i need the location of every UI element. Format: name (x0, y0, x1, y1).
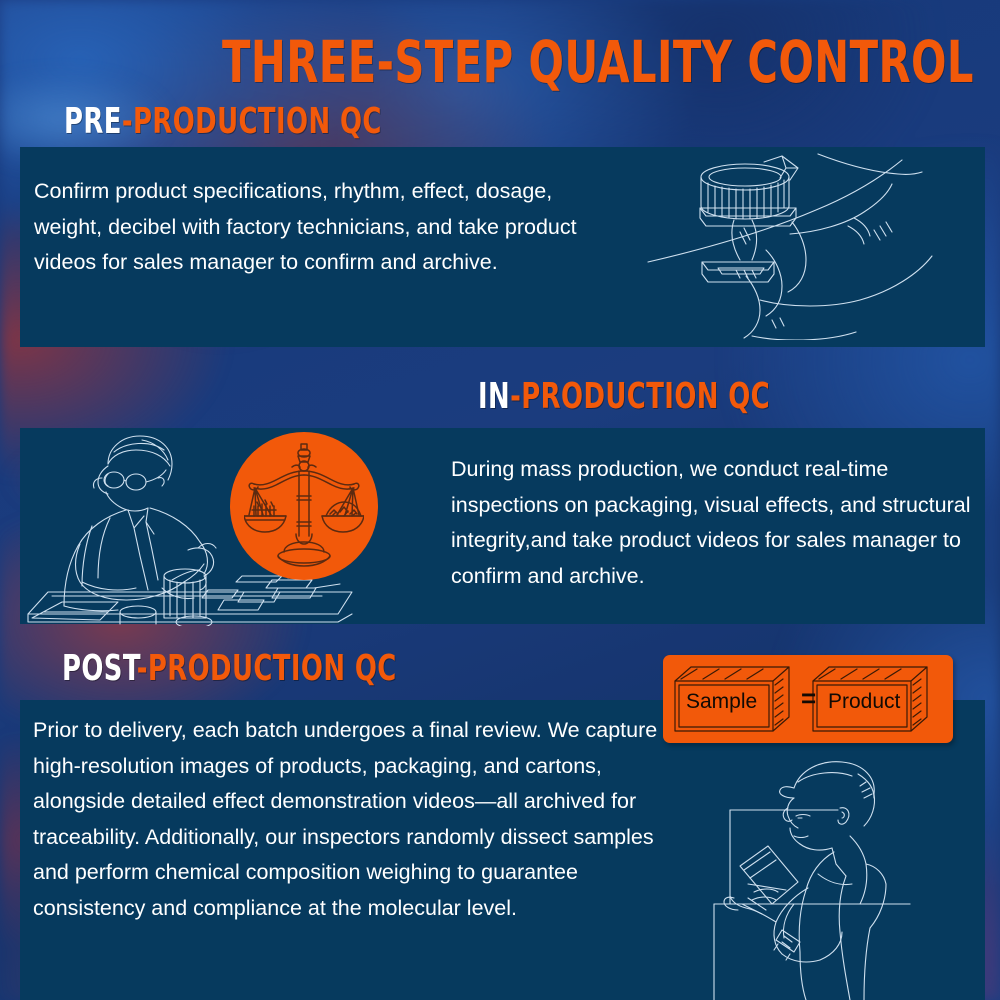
step-heading-in-production-suffix: -PRODUCTION QC (510, 376, 770, 417)
step-heading-post-production: POST-PRODUCTION QC (62, 651, 397, 687)
step-body-in-production: During mass production, we conduct real-… (451, 452, 986, 594)
step-heading-pre-production-suffix: -PRODUCTION QC (122, 101, 382, 142)
page-title: THREE-STEP QUALITY CONTROL (222, 33, 974, 91)
inspector-with-clipboard-icon (690, 752, 980, 1000)
balance-scales-badge (230, 432, 378, 580)
step-heading-post-production-suffix: -PRODUCTION QC (137, 648, 397, 689)
step-heading-in-production-prefix: IN (478, 376, 510, 417)
step-heading-pre-production: PRE-PRODUCTION QC (64, 104, 382, 140)
sample-box-label: Sample (686, 691, 757, 712)
step-heading-post-production-prefix: POST (62, 648, 137, 689)
product-box-label: Product (828, 691, 900, 712)
balance-scales-icon (244, 440, 364, 572)
step-body-pre-production: Confirm product specifications, rhythm, … (34, 174, 594, 281)
step-heading-in-production: IN-PRODUCTION QC (478, 379, 770, 415)
equals-sign-label: = (801, 688, 816, 709)
step-body-post-production: Prior to delivery, each batch undergoes … (33, 713, 658, 926)
hand-holding-product-icon (640, 150, 970, 340)
step-heading-pre-production-prefix: PRE (64, 101, 122, 142)
